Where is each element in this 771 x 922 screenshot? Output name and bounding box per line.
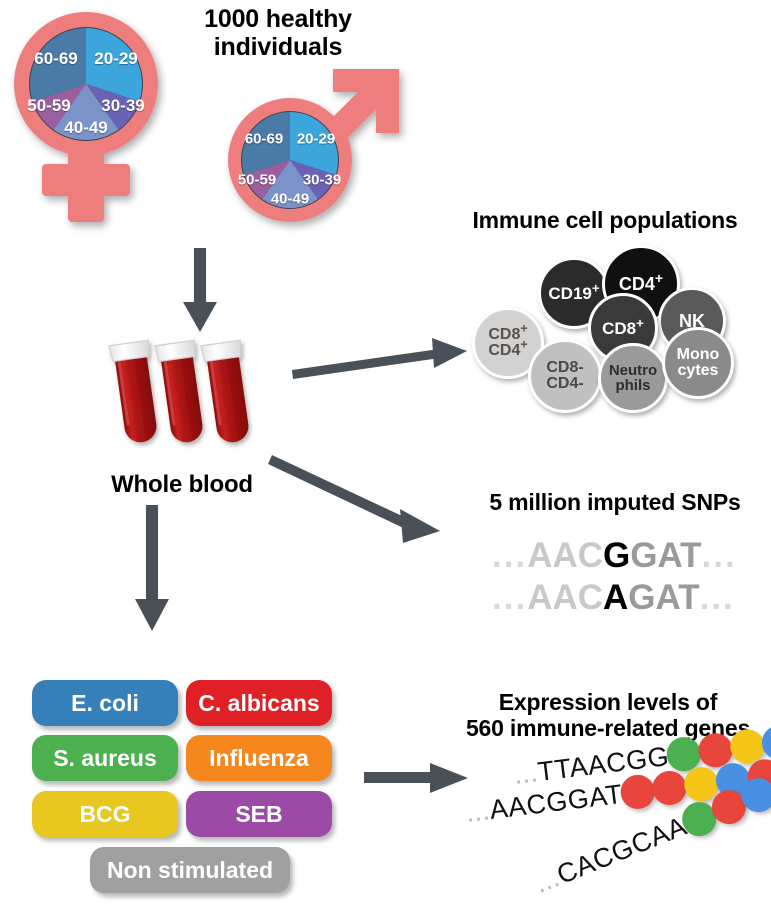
snp-prefix: AAC xyxy=(527,536,603,575)
cohort-title: 1000 healthy individuals xyxy=(173,5,383,61)
stimulus-influenza[interactable]: Influenza xyxy=(186,735,332,781)
dna-ellipsis: ... xyxy=(512,757,539,790)
cell-label: Neutrophils xyxy=(609,363,657,393)
arrow-blood-to-immune xyxy=(292,330,472,390)
snp-ellipsis-right: ... xyxy=(700,578,735,617)
snp-variant-g: G xyxy=(603,536,630,575)
snp-ellipsis-left: ... xyxy=(492,536,527,575)
stimulus-s-aureus[interactable]: S. aureus xyxy=(32,735,178,781)
dna-bases: AACGGAT xyxy=(488,778,624,824)
snp-allele-row-1: ...AACGGAT... xyxy=(492,536,737,576)
cell-label: Monocytes xyxy=(677,347,720,379)
stimulus-non-stimulated[interactable]: Non stimulated xyxy=(90,847,290,893)
stimulus-label: C. albicans xyxy=(198,690,319,717)
stimulus-label: Non stimulated xyxy=(107,857,273,884)
snp-suffix: GAT xyxy=(630,536,701,575)
snps-section-title: 5 million imputed SNPs xyxy=(470,490,760,516)
snp-prefix: AAC xyxy=(527,578,603,617)
cell-label: CD4+ xyxy=(619,275,663,293)
blood-tubes-illustration xyxy=(108,335,258,460)
stimulus-bcg[interactable]: BCG xyxy=(32,791,178,837)
cell-cd8-cd4-negative: CD8-CD4- xyxy=(528,339,602,413)
stimulus-label: E. coli xyxy=(71,690,139,717)
male-symbol: 20-29 30-39 40-49 50-59 60-69 xyxy=(208,55,408,250)
female-symbol: 20-29 30-39 40-49 50-59 60-69 xyxy=(6,6,186,236)
immune-section-title: Immune cell populations xyxy=(455,208,755,234)
stimulus-e-coli[interactable]: E. coli xyxy=(32,680,178,726)
dna-strands-illustration: ...TTAACGG ...AACGGAT ...CACGCAA xyxy=(440,740,771,922)
snp-ellipsis-right: ... xyxy=(702,536,737,575)
cell-label: CD8+CD4+ xyxy=(488,327,527,359)
arrow-blood-to-stimuli xyxy=(130,505,174,635)
dna-bases: CACGCAA xyxy=(552,810,690,889)
cell-monocytes: Monocytes xyxy=(662,327,734,399)
dna-bead xyxy=(618,773,656,811)
cell-neutrophils: Neutrophils xyxy=(598,343,668,413)
stimulus-seb[interactable]: SEB xyxy=(186,791,332,837)
whole-blood-label: Whole blood xyxy=(82,472,282,499)
cell-label: CD19+ xyxy=(548,285,599,302)
dna-bead xyxy=(760,724,771,762)
snp-allele-row-2: ...AACAGAT... xyxy=(492,578,735,618)
dna-sequence-3: ...CACGCAA xyxy=(530,810,691,899)
immune-cell-cluster: CD8+CD4+ CD19+ CD4+ NK CD8+ CD8-CD4- Neu… xyxy=(470,245,760,425)
stimulus-label: S. aureus xyxy=(53,745,157,772)
cell-label: CD8+ xyxy=(602,320,644,337)
arrow-blood-to-snps xyxy=(272,455,462,555)
dna-ellipsis: ... xyxy=(464,795,491,828)
arrow-cohort-to-blood xyxy=(180,248,220,336)
snp-suffix: GAT xyxy=(628,578,699,617)
snp-variant-a: A xyxy=(603,578,628,617)
cell-label: CD8-CD4- xyxy=(546,360,583,392)
stimulus-label: SEB xyxy=(235,801,282,828)
dna-bead xyxy=(650,769,688,807)
stimulus-c-albicans[interactable]: C. albicans xyxy=(186,680,332,726)
stimulus-label: Influenza xyxy=(209,745,309,772)
stimulus-label: BCG xyxy=(79,801,130,828)
snp-ellipsis-left: ... xyxy=(492,578,527,617)
dna-sequence-2: ...AACGGAT xyxy=(464,778,624,828)
